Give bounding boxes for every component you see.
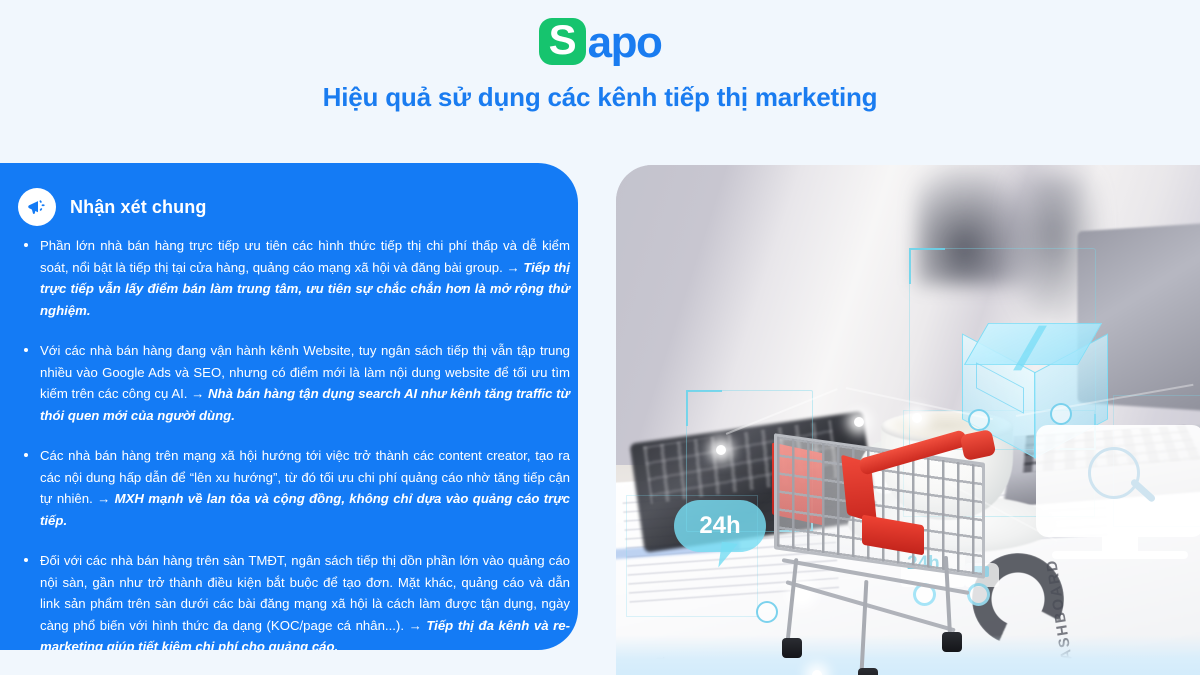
megaphone-icon bbox=[18, 188, 56, 226]
arrow-marker: → bbox=[191, 386, 208, 401]
hud-corner-icon bbox=[686, 390, 722, 426]
list-item: Với các nhà bán hàng đang vận hành kênh … bbox=[22, 340, 570, 426]
cart-wheel bbox=[942, 632, 962, 652]
list-item: Phần lớn nhà bán hàng trực tiếp ưu tiên … bbox=[22, 235, 570, 321]
bullet-text: Phần lớn nhà bán hàng trực tiếp ưu tiên … bbox=[40, 238, 570, 275]
monitor-foot bbox=[1052, 551, 1188, 559]
panel-heading: Nhận xét chung bbox=[70, 197, 206, 218]
ecommerce-logistics-photo: ASHBOARD Compa 24h bbox=[616, 165, 1200, 675]
panel-header: Nhận xét chung bbox=[18, 188, 206, 226]
cart-wheel bbox=[858, 668, 878, 675]
speech-bubble-24h: 24h bbox=[674, 500, 766, 552]
list-item: Đối với các nhà bán hàng trên sàn TMĐT, … bbox=[22, 550, 570, 650]
page-header: S apo Hiệu quả sử dụng các kênh tiếp thị… bbox=[0, 0, 1200, 163]
shopping-cart-icon bbox=[766, 430, 1036, 675]
network-node-icon bbox=[1050, 403, 1072, 425]
cart-handle-grip bbox=[960, 429, 997, 461]
sapo-logo-mark-icon: S bbox=[539, 18, 586, 65]
sapo-logo-letter: S bbox=[549, 19, 576, 61]
list-item: Các nhà bán hàng trên mạng xã hội hướng … bbox=[22, 445, 570, 531]
bullet-emphasis: MXH mạnh về lan tỏa và cộng đồng, không … bbox=[40, 491, 570, 528]
brand-logo: S apo bbox=[0, 18, 1200, 65]
cart-wheel bbox=[782, 638, 802, 658]
speech-bubble-tail bbox=[718, 542, 741, 571]
commentary-panel: Nhận xét chung Phần lớn nhà bán hàng trự… bbox=[0, 163, 578, 650]
sapo-logo-text: apo bbox=[588, 21, 662, 65]
magnifier-icon bbox=[1088, 447, 1140, 499]
arrow-marker: → bbox=[97, 491, 115, 506]
page-title: Hiệu quả sử dụng các kênh tiếp thị marke… bbox=[0, 82, 1200, 113]
monitor-search-icon bbox=[1036, 425, 1200, 565]
network-node-icon bbox=[968, 409, 990, 431]
light-spark bbox=[912, 413, 922, 423]
bubble-label: 24h bbox=[699, 512, 740, 540]
light-spark bbox=[716, 445, 726, 455]
hud-corner-icon bbox=[909, 248, 945, 284]
arrow-marker: → bbox=[506, 260, 523, 275]
cart-leg bbox=[786, 558, 799, 642]
light-spark bbox=[854, 417, 864, 427]
cart-leg bbox=[860, 580, 869, 672]
bullet-list: Phần lớn nhà bán hàng trực tiếp ưu tiên … bbox=[22, 235, 570, 650]
arrow-marker: → bbox=[409, 618, 427, 633]
